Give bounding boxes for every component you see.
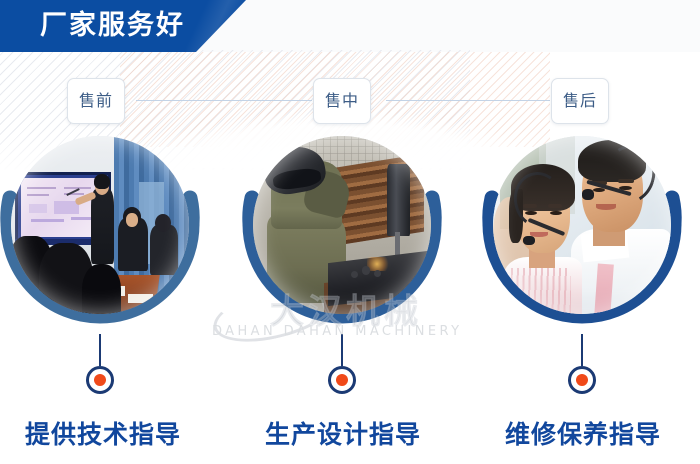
- stage-label-presale[interactable]: 售前: [67, 78, 125, 124]
- stage-label-midsale-text: 售中: [325, 93, 359, 109]
- service-photo-aftersale: [493, 136, 671, 314]
- caption-midsale: 生产设计指导: [228, 412, 458, 458]
- marker-dot-3: [568, 366, 596, 394]
- service-card-midsale[interactable]: [240, 128, 444, 334]
- connector-stem-3: [581, 334, 583, 366]
- stage-label-row: 售前 售中 售后: [0, 78, 700, 124]
- connector-line-1: [136, 100, 312, 101]
- service-promo-graphic: 厂家服务好 售前 售中 售后: [0, 0, 700, 464]
- connector-line-2: [386, 100, 550, 101]
- marker-dot-2: [328, 366, 356, 394]
- caption-aftersale: 维修保养指导: [468, 412, 698, 458]
- connector-stem-1: [99, 334, 101, 366]
- stage-label-presale-text: 售前: [79, 93, 113, 109]
- service-photo-midsale: [253, 136, 431, 314]
- caption-row: 提供技术指导 生产设计指导 维修保养指导: [0, 412, 700, 464]
- stage-label-aftersale[interactable]: 售后: [551, 78, 609, 124]
- marker-dot-1: [86, 366, 114, 394]
- banner-title: 厂家服务好: [40, 0, 185, 52]
- stage-label-midsale[interactable]: 售中: [313, 78, 371, 124]
- connector-stem-2: [341, 334, 343, 366]
- service-photo-presale: [11, 136, 189, 314]
- service-card-presale[interactable]: [0, 128, 202, 334]
- caption-presale: 提供技术指导: [0, 412, 218, 458]
- stage-label-aftersale-text: 售后: [563, 93, 597, 109]
- service-card-aftersale[interactable]: [480, 128, 684, 334]
